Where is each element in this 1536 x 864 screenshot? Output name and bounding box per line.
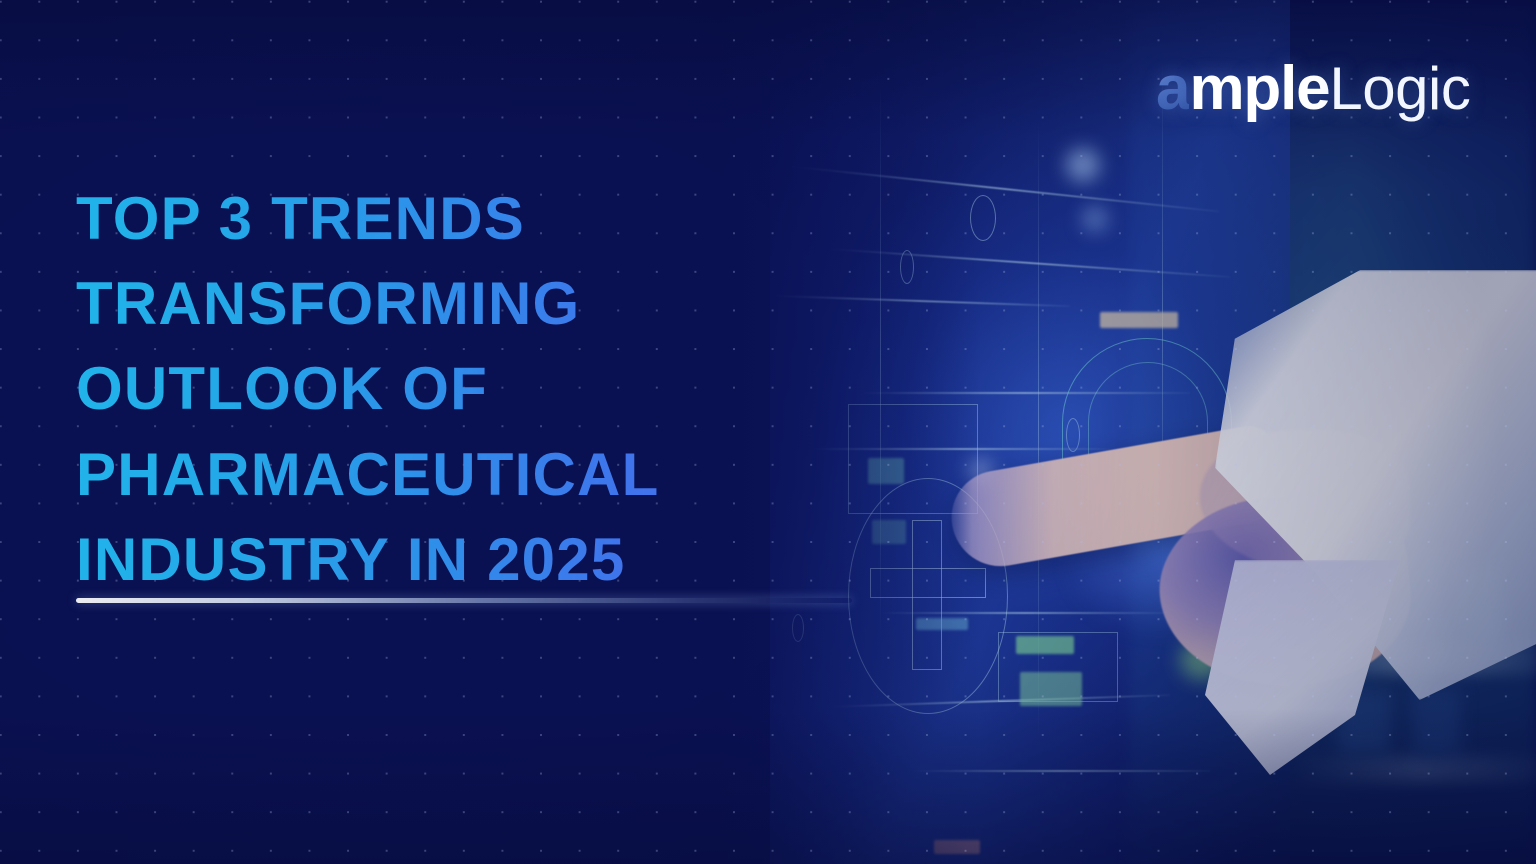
headline-line-3: OUTLOOK OF [76,346,776,431]
headline-line-4: PHARMACEUTICAL [76,432,776,517]
logo-name-light: Logic [1329,59,1470,119]
ample-logic-logo[interactable]: ampleLogic [1156,58,1470,120]
headline-line-2: TRANSFORMING [76,261,776,346]
headline-line-1: TOP 3 TRENDS [76,176,776,261]
logo-name-bold: mple [1189,58,1329,120]
headline-line-5: INDUSTRY IN 2025 [76,517,776,602]
headline-block: TOP 3 TRENDS TRANSFORMING OUTLOOK OF PHA… [76,176,776,602]
logo-a-mark: a [1156,58,1189,120]
promo-banner: ampleLogic TOP 3 TRENDS TRANSFORMING OUT… [0,0,1536,864]
headline-underline [76,598,852,603]
